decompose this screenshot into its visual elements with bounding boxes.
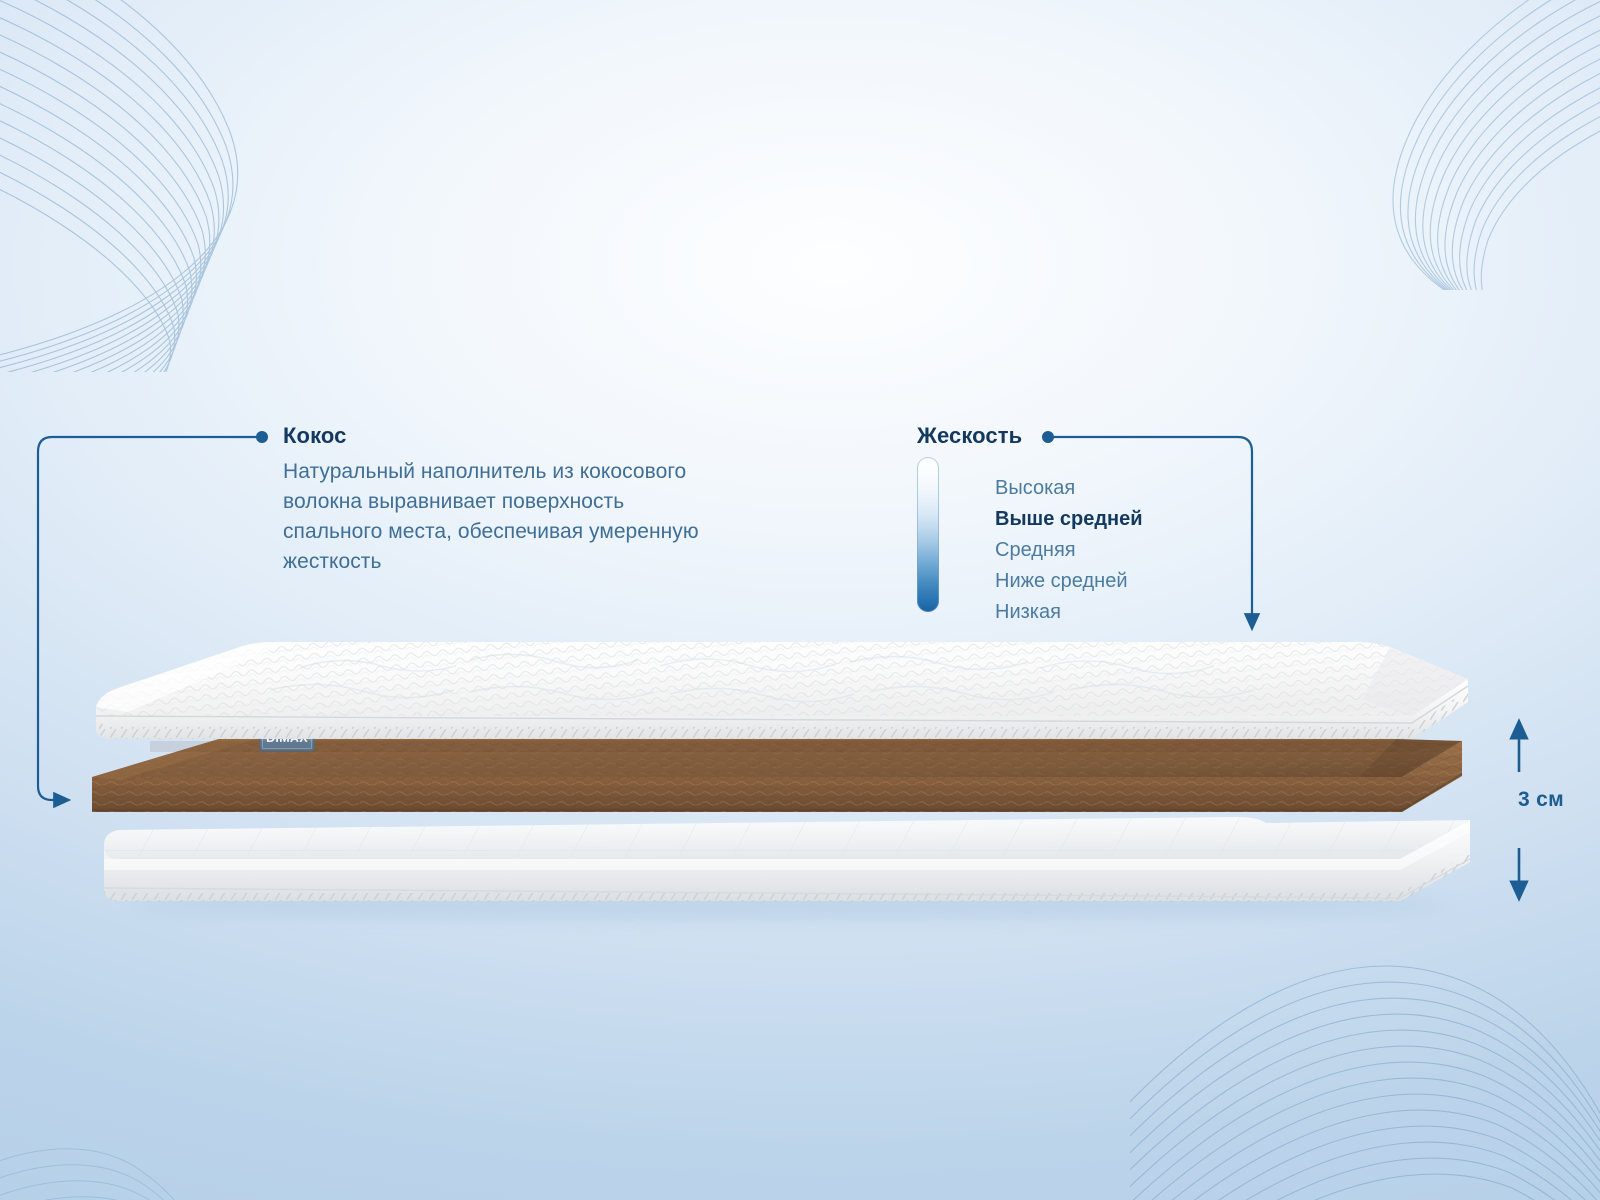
firmness-scale: Высокая Выше средней Средняя Ниже средне… xyxy=(917,457,1187,644)
firmness-level-list: Высокая Выше средней Средняя Ниже средне… xyxy=(955,473,1143,628)
firmness-level-1[interactable]: Выше средней xyxy=(995,504,1143,535)
callout-coconut: Кокос Натуральный наполнитель из кокосов… xyxy=(283,423,713,577)
firmness-level-2[interactable]: Средняя xyxy=(995,535,1143,566)
leader-dot-coconut xyxy=(256,431,268,443)
firmness-level-0[interactable]: Высокая xyxy=(995,473,1143,504)
callout-firmness: Жескость Высокая Выше средней Средняя Ни… xyxy=(917,423,1187,644)
firmness-gradient-bar xyxy=(917,457,939,612)
firmness-level-4[interactable]: Низкая xyxy=(995,597,1143,628)
callout-coconut-title: Кокос xyxy=(283,423,713,449)
dimension-value: 3 см xyxy=(1498,788,1584,812)
leader-line-coconut xyxy=(38,431,268,800)
infographic-canvas: DiMAX xyxy=(0,0,1600,1200)
callout-firmness-title: Жескость xyxy=(917,423,1187,449)
leader-lines xyxy=(0,0,1600,1200)
callout-coconut-body: Натуральный наполнитель из кокосового во… xyxy=(283,457,713,576)
dimension-indicator: 3 см xyxy=(1498,712,1593,907)
firmness-level-3[interactable]: Ниже средней xyxy=(995,566,1143,597)
